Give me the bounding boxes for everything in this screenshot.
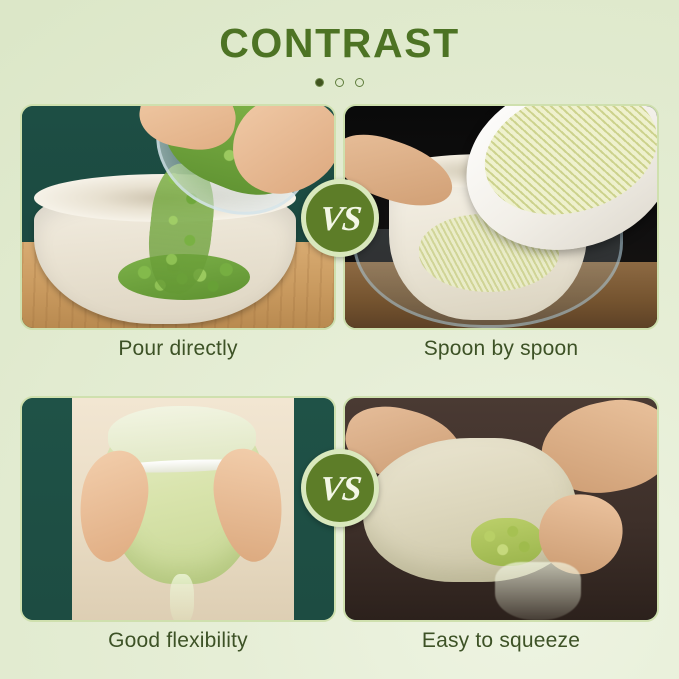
comparison-cell-spoon-by-spoon: Spoon by spoon [343, 104, 659, 372]
vs-badge-label: VS [318, 471, 362, 506]
caption-spoon-by-spoon: Spoon by spoon [343, 334, 659, 364]
photo-easy-to-squeeze [345, 398, 657, 620]
comparison-cell-easy-to-squeeze: Easy to squeeze [343, 396, 659, 664]
photo-good-flexibility [22, 398, 334, 620]
vs-badge-icon-top: VS [301, 179, 379, 257]
caption-good-flexibility: Good flexibility [20, 626, 336, 656]
photo-pour-directly [22, 106, 334, 328]
pagination-dot-icon-3[interactable] [355, 78, 364, 87]
image-panel-easy-to-squeeze[interactable] [343, 396, 659, 622]
pagination-dot-icon-2[interactable] [335, 78, 344, 87]
contrast-infographic: CONTRAST Po [0, 0, 679, 679]
comparison-cell-good-flexibility: Good flexibility [20, 396, 336, 664]
caption-pour-directly: Pour directly [20, 334, 336, 364]
green-pulp [471, 518, 543, 566]
photo-spoon-by-spoon [345, 106, 657, 328]
vs-badge-label: VS [318, 201, 362, 236]
vs-badge-icon-bottom: VS [301, 449, 379, 527]
pagination-dot-icon-1[interactable] [315, 78, 324, 87]
page-title: CONTRAST [0, 0, 679, 66]
juice-drip [170, 574, 194, 622]
image-panel-good-flexibility[interactable] [20, 396, 336, 622]
pagination[interactable] [0, 75, 679, 89]
comparison-cell-pour-directly: Pour directly [20, 104, 336, 372]
caption-easy-to-squeeze: Easy to squeeze [343, 626, 659, 656]
juice-drip [495, 562, 581, 620]
image-panel-pour-directly[interactable] [20, 104, 336, 330]
cheesecloth-bag [363, 438, 577, 582]
header: CONTRAST [0, 0, 679, 100]
image-panel-spoon-by-spoon[interactable] [343, 104, 659, 330]
